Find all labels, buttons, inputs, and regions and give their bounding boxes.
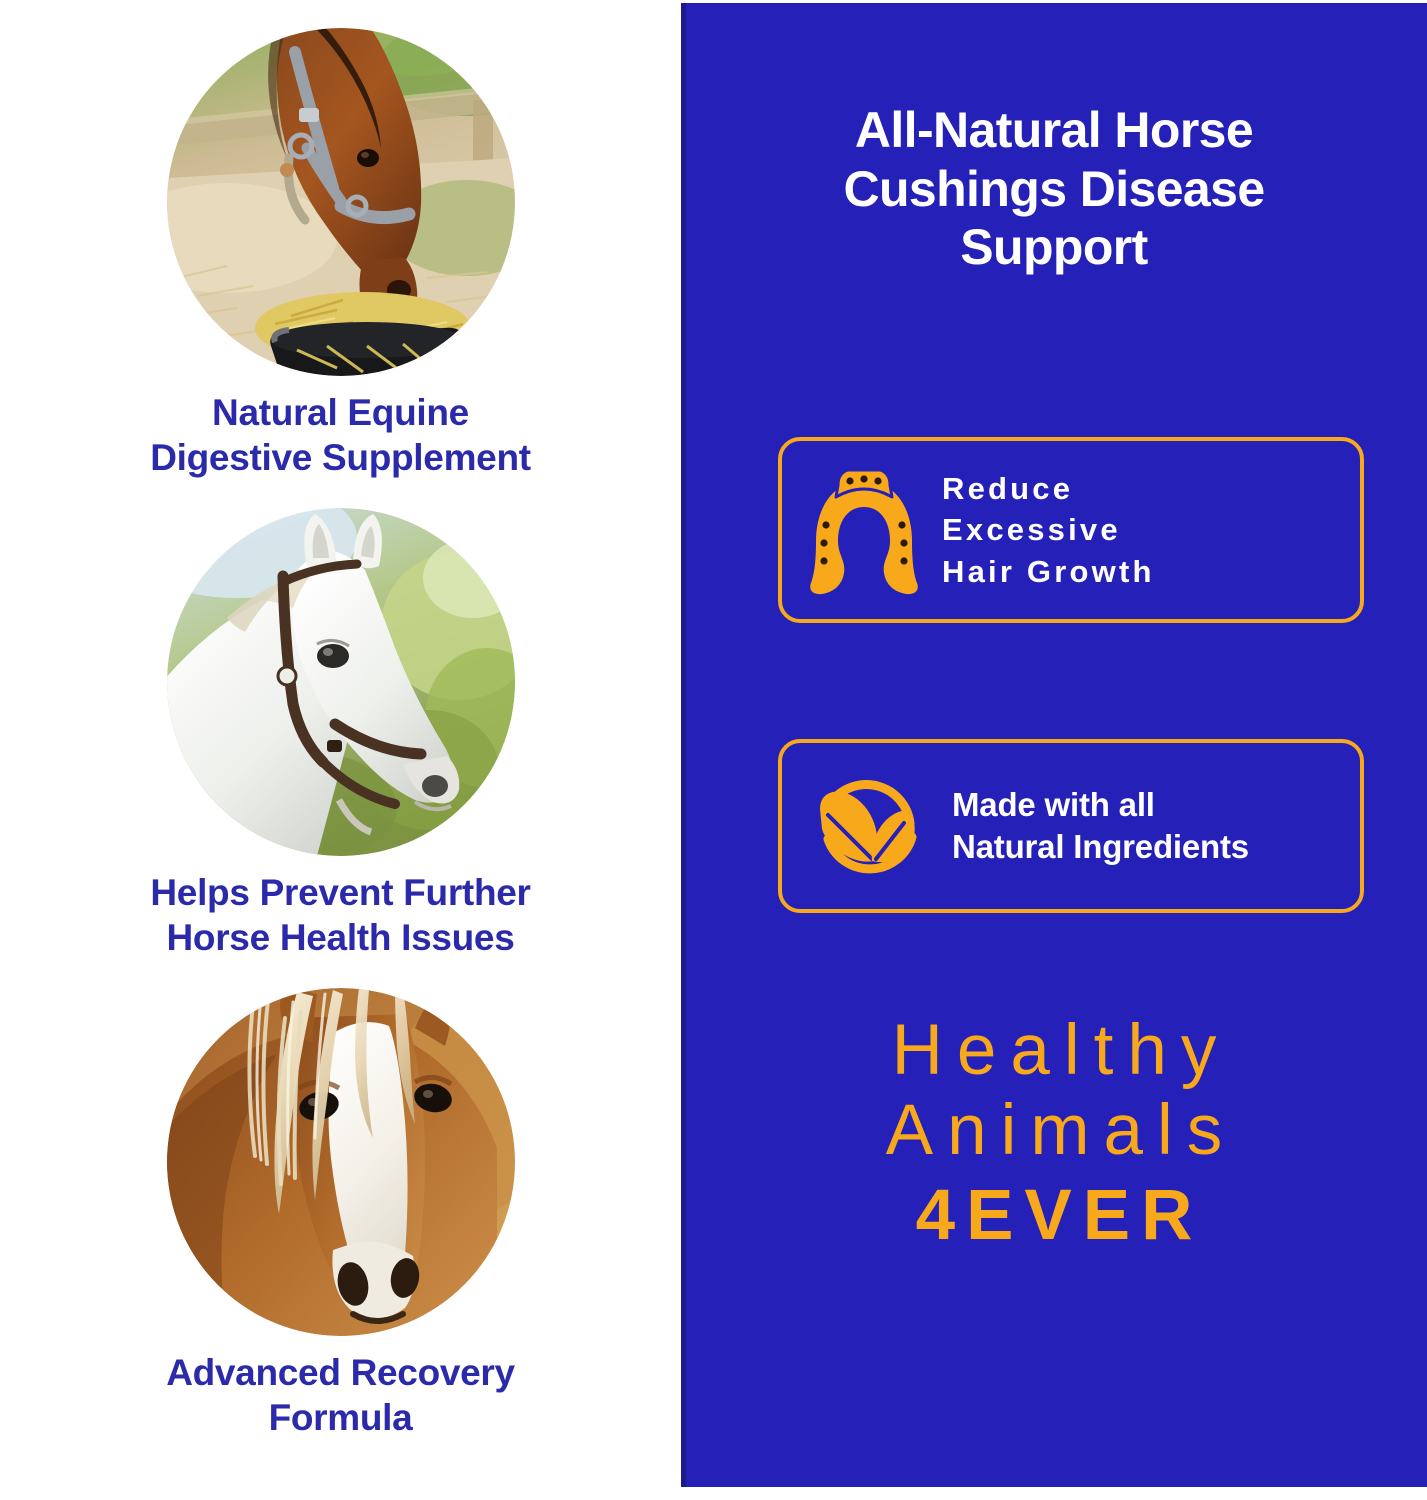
panel-title-line2: Cushings Disease (717, 160, 1391, 219)
feature-caption-2-line2: Horse Health Issues (24, 915, 657, 960)
brand-line-4ever: 4EVER (717, 1174, 1391, 1258)
panel-title: All-Natural Horse Cushings Disease Suppo… (717, 101, 1391, 277)
brand-logo: Healthy Animals 4EVER (717, 1011, 1391, 1258)
right-info-panel: All-Natural Horse Cushings Disease Suppo… (681, 3, 1427, 1487)
horseshoe-icon (808, 463, 920, 597)
badge-2-line1: Made with all (952, 784, 1249, 826)
feature-block-2: Helps Prevent Further Horse Health Issue… (0, 508, 681, 960)
panel-title-line1: All-Natural Horse (717, 101, 1391, 160)
panel-title-line3: Support (717, 218, 1391, 277)
feature-caption-1-line1: Natural Equine (24, 390, 657, 435)
badge-1-line3: Hair Growth (942, 551, 1155, 592)
badge-2-line2: Natural Ingredients (952, 826, 1249, 868)
feature-caption-3-line2: Formula (24, 1395, 657, 1440)
leaf-circle-icon (808, 765, 930, 887)
feature-caption-3: Advanced Recovery Formula (0, 1350, 681, 1440)
panel-left-edge (681, 3, 686, 1487)
infographic-page: Natural Equine Digestive Supplement (0, 0, 1427, 1500)
feature-caption-2-line1: Helps Prevent Further (24, 870, 657, 915)
feature-block-3: Advanced Recovery Formula (0, 988, 681, 1440)
brand-line-healthy: Healthy (717, 1011, 1391, 1091)
white-horse-portrait-photo (167, 508, 515, 856)
feature-caption-3-line1: Advanced Recovery (24, 1350, 657, 1395)
chestnut-horse-portrait-photo (167, 988, 515, 1336)
feature-caption-1: Natural Equine Digestive Supplement (0, 390, 681, 480)
left-feature-column: Natural Equine Digestive Supplement (0, 0, 681, 1500)
feature-block-1: Natural Equine Digestive Supplement (0, 28, 681, 480)
badge-2-text: Made with all Natural Ingredients (952, 784, 1249, 868)
badge-1-line1: Reduce (942, 468, 1155, 509)
feature-caption-1-line2: Digestive Supplement (24, 435, 657, 480)
horse-eating-hay-photo (167, 28, 515, 376)
badge-1-line2: Excessive (942, 509, 1155, 550)
benefit-badge-natural-ingredients[interactable]: Made with all Natural Ingredients (778, 739, 1364, 913)
badge-1-text: Reduce Excessive Hair Growth (942, 468, 1155, 592)
benefit-badge-reduce-hair-growth[interactable]: Reduce Excessive Hair Growth (778, 437, 1364, 623)
feature-caption-2: Helps Prevent Further Horse Health Issue… (0, 870, 681, 960)
brand-line-animals: Animals (717, 1091, 1391, 1171)
